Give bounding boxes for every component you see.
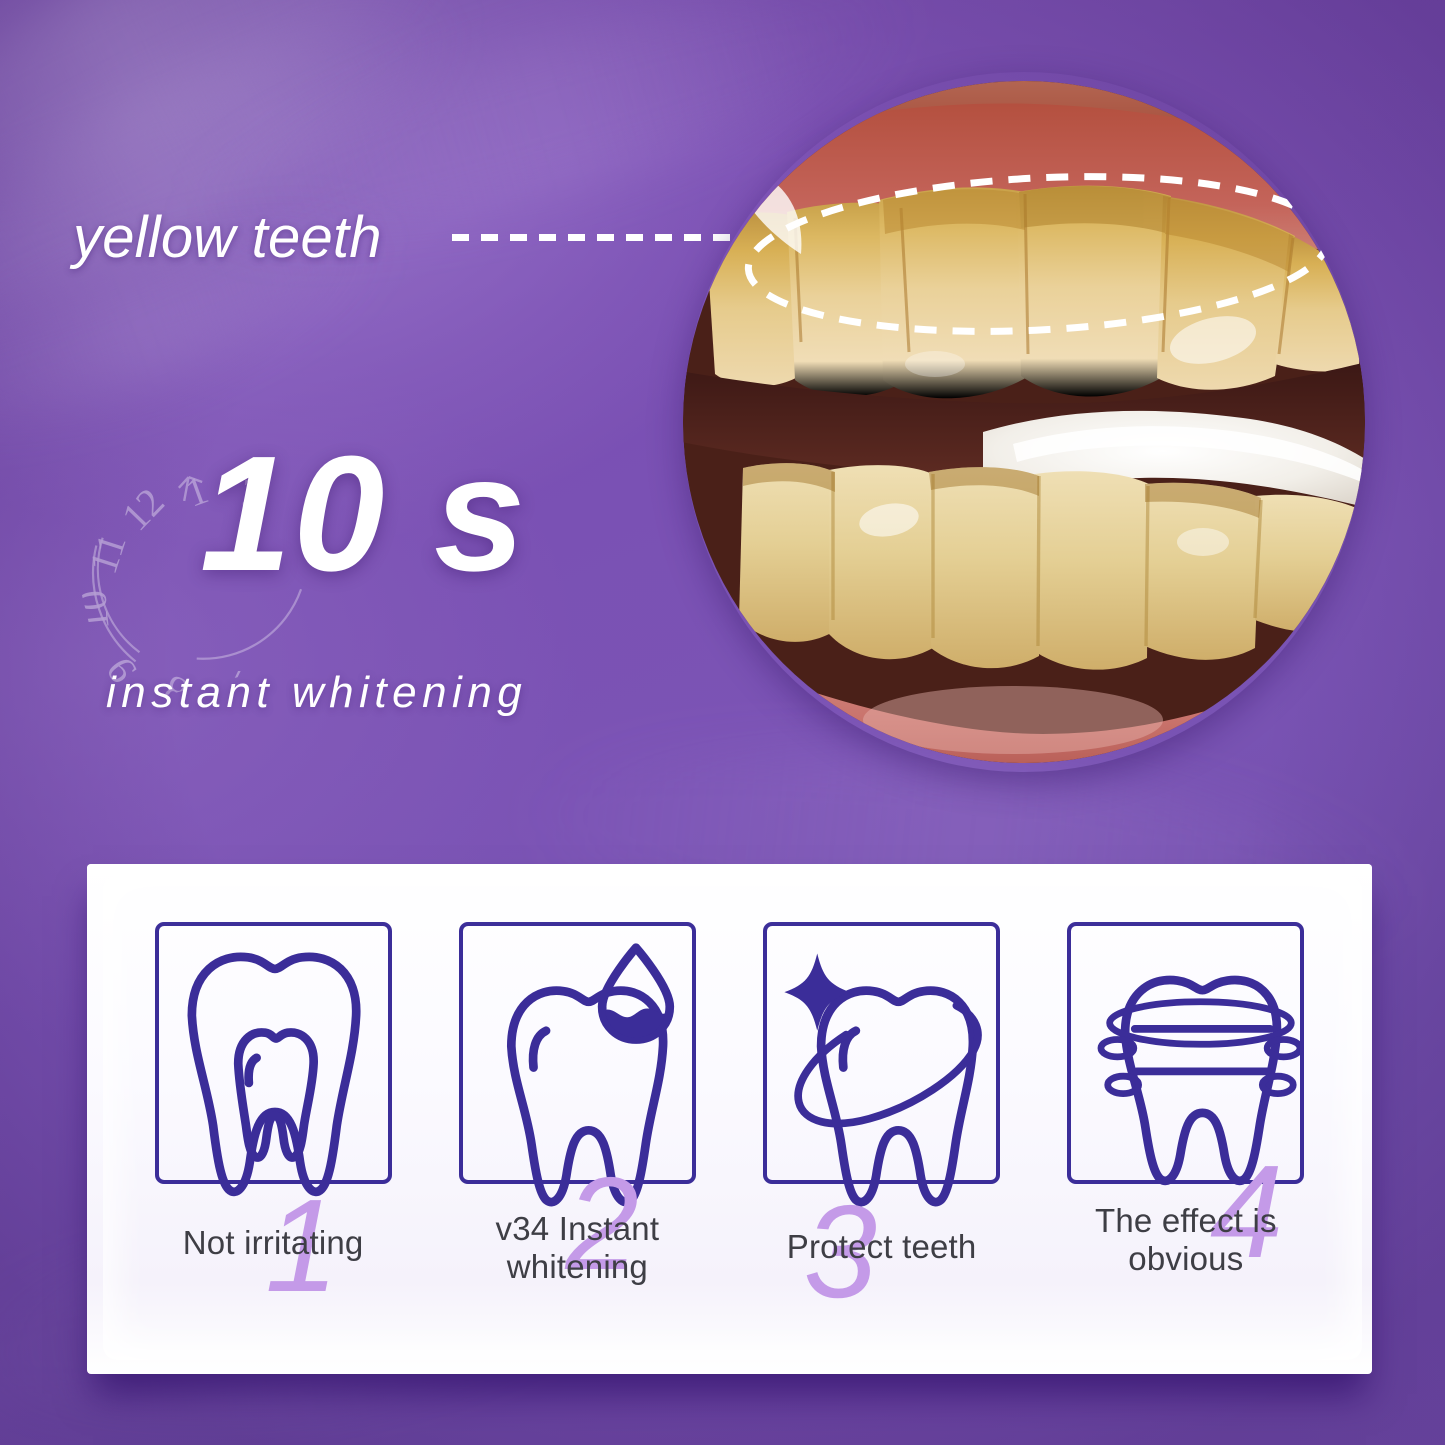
features-panel: 1 Not irritating <box>87 864 1372 1374</box>
tooth-outline-icon <box>155 922 392 1184</box>
yellow-teeth-closeup-photo <box>683 72 1365 772</box>
feature-cell-instant-whitening[interactable]: 2 v34 Instant whitening <box>425 922 729 1374</box>
timer-caption: instant whitening <box>106 668 527 718</box>
feature-caption: 4 The effect is obvious <box>1034 1202 1338 1277</box>
tooth-droplet-icon <box>459 922 696 1184</box>
tooth-orbit-sparkle-icon <box>763 922 1000 1184</box>
features-row: 1 Not irritating <box>87 864 1372 1374</box>
svg-text:12: 12 <box>113 479 173 539</box>
svg-text:10: 10 <box>69 588 118 632</box>
feature-caption: 3 Protect teeth <box>730 1228 1034 1266</box>
poster-canvas: yellow teeth 12 1 2 11 10 9 8 7 <box>0 0 1445 1445</box>
timer-duration: 10 s <box>200 432 527 596</box>
feature-label: Not irritating <box>183 1224 364 1261</box>
feature-cell-not-irritating[interactable]: 1 Not irritating <box>121 922 425 1374</box>
feature-caption: 1 Not irritating <box>121 1224 425 1262</box>
svg-text:11: 11 <box>80 528 135 579</box>
feature-cell-effect-obvious[interactable]: 4 The effect is obvious <box>1034 922 1338 1374</box>
timer-block: 12 1 2 11 10 9 8 7 10 s instant whitenin… <box>72 440 592 740</box>
feature-cell-protect-teeth[interactable]: 3 Protect teeth <box>730 922 1034 1374</box>
feature-caption: 2 v34 Instant whitening <box>425 1210 729 1285</box>
feature-label: Protect teeth <box>787 1228 977 1265</box>
callout-headline: yellow teeth <box>73 204 382 271</box>
feature-label: v34 Instant whitening <box>496 1210 660 1285</box>
